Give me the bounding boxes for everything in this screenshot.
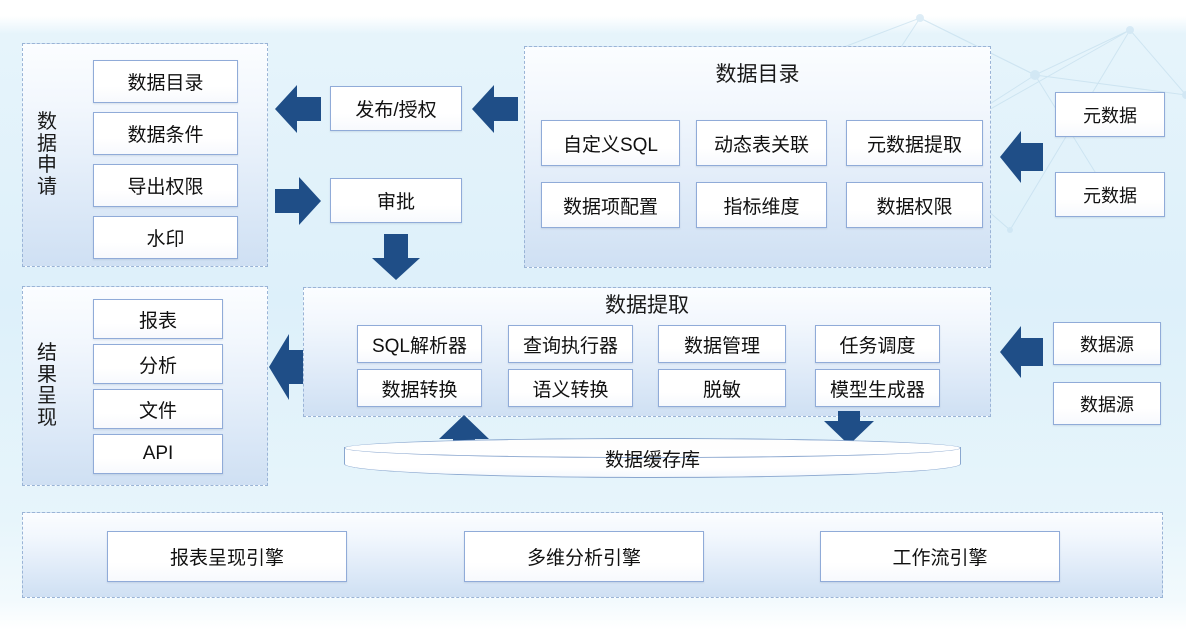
box-extraction-5[interactable]: 语义转换 [508,369,633,407]
box-extraction-3[interactable]: 任务调度 [815,325,940,363]
box-extraction-0[interactable]: SQL解析器 [357,325,482,363]
box-data-request-1[interactable]: 数据条件 [93,112,238,155]
architecture-diagram: 数据申请 数据目录 数据条件 导出权限 水印 结果呈现 报表 分析 文件 API… [0,0,1186,630]
box-metadata-1[interactable]: 元数据 [1055,172,1165,217]
box-engine-1[interactable]: 多维分析引擎 [464,531,704,582]
box-data-request-3[interactable]: 水印 [93,216,238,259]
box-metadata-0[interactable]: 元数据 [1055,92,1165,137]
box-catalog-0[interactable]: 自定义SQL [541,120,680,166]
box-result-3[interactable]: API [93,434,223,474]
box-data-request-0[interactable]: 数据目录 [93,60,238,103]
box-extraction-4[interactable]: 数据转换 [357,369,482,407]
panel-data-catalog-title: 数据目录 [524,64,991,87]
database-cache-label: 数据缓存库 [344,438,961,478]
arrow-left-publish-to-request [275,83,321,135]
box-extraction-6[interactable]: 脱敏 [658,369,786,407]
box-catalog-1[interactable]: 动态表关联 [696,120,827,166]
box-extraction-2[interactable]: 数据管理 [658,325,786,363]
panel-data-extraction-title: 数据提取 [303,295,991,318]
arrow-down-approval-to-extraction [370,234,422,280]
arrow-left-catalog-to-publish [472,83,518,135]
box-engine-0[interactable]: 报表呈现引擎 [107,531,347,582]
box-catalog-3[interactable]: 数据项配置 [541,182,680,228]
arrow-right-request-to-approval [275,175,321,227]
box-datasource-1[interactable]: 数据源 [1053,382,1161,425]
box-extraction-7[interactable]: 模型生成器 [815,369,940,407]
arrow-left-datasource-to-extraction [1000,323,1043,381]
box-result-2[interactable]: 文件 [93,389,223,429]
box-engine-2[interactable]: 工作流引擎 [820,531,1060,582]
panel-result-presentation-title: 结果呈现 [34,343,60,429]
box-data-request-2[interactable]: 导出权限 [93,164,238,207]
box-result-0[interactable]: 报表 [93,299,223,339]
box-extraction-1[interactable]: 查询执行器 [508,325,633,363]
box-result-1[interactable]: 分析 [93,344,223,384]
box-publish-authorize[interactable]: 发布/授权 [330,86,462,131]
box-catalog-4[interactable]: 指标维度 [696,182,827,228]
arrow-left-metadata-to-catalog [1000,128,1043,186]
box-datasource-0[interactable]: 数据源 [1053,322,1161,365]
database-cache-cylinder[interactable]: 数据缓存库 [344,438,961,478]
panel-data-request-title: 数据申请 [34,112,60,198]
box-catalog-2[interactable]: 元数据提取 [846,120,983,166]
box-catalog-5[interactable]: 数据权限 [846,182,983,228]
box-approval[interactable]: 审批 [330,178,462,223]
